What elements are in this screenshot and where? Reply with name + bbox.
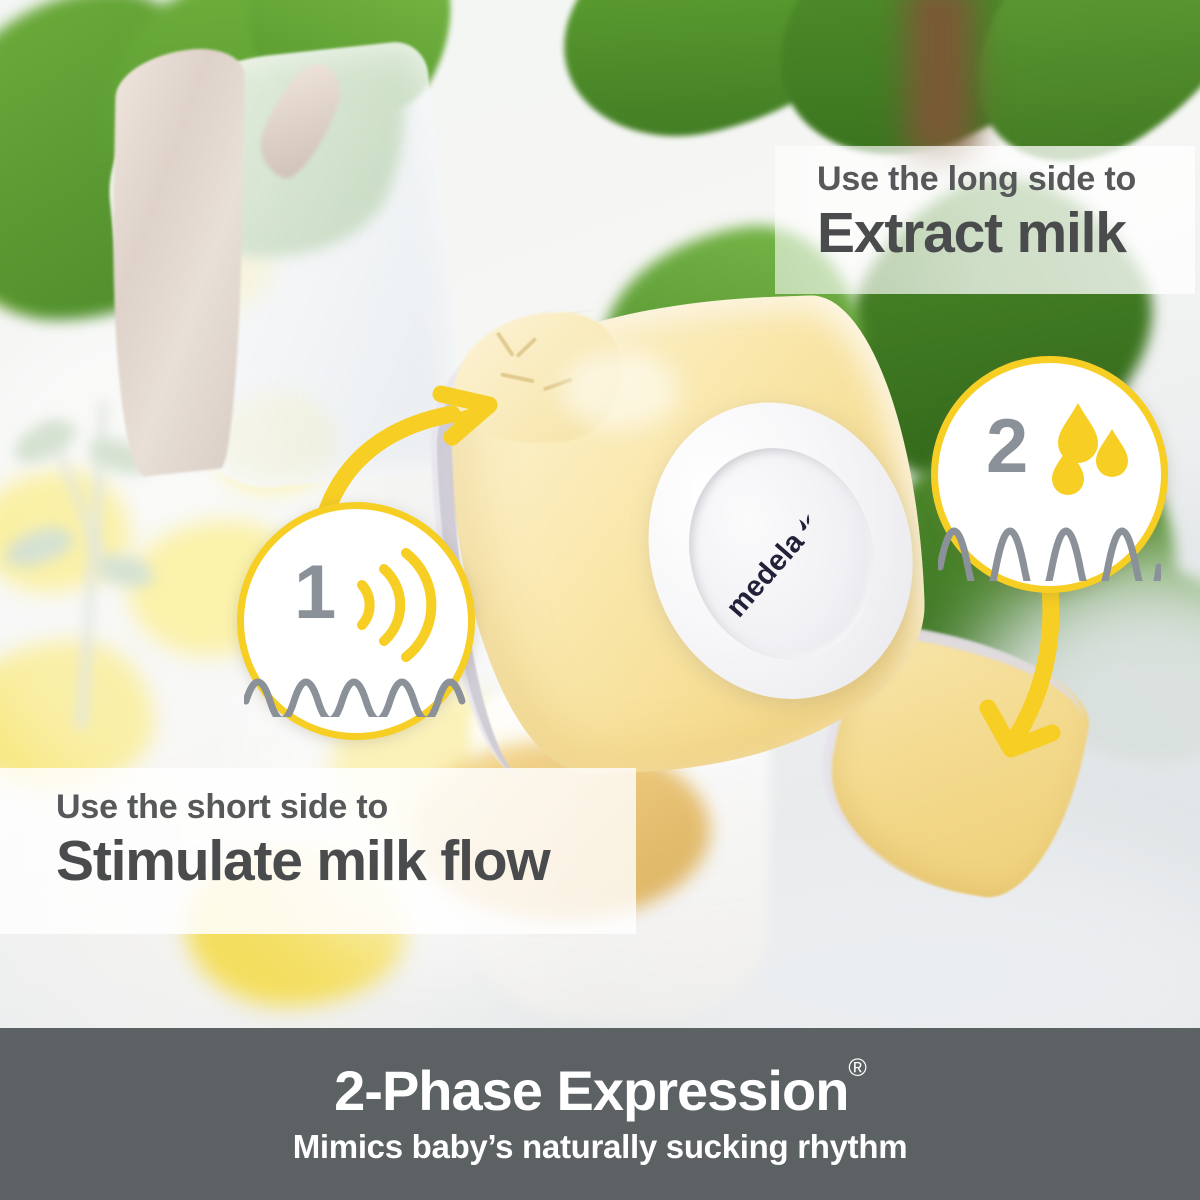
- phase-1-badge: 1: [237, 502, 475, 740]
- medela-wordmark-text: medela: [720, 526, 811, 624]
- bottom-banner: 2-Phase Expression® Mimics baby’s natura…: [0, 1028, 1200, 1200]
- callout-extract-eyebrow: Use the long side to: [817, 162, 1195, 198]
- infographic-canvas: medela 1: [0, 0, 1200, 1200]
- butterfly-mark-icon: [787, 505, 814, 532]
- phase-1-number: 1: [294, 555, 336, 631]
- callout-stimulate-headline: Stimulate milk flow: [56, 831, 636, 891]
- callout-extract-milk: Use the long side to Extract milk: [775, 146, 1195, 294]
- fast-wave-icon: [244, 657, 468, 717]
- photo-glint: [560, 350, 680, 430]
- callout-stimulate-milk-flow: Use the short side to Stimulate milk flo…: [0, 768, 636, 934]
- signal-waves-icon: [348, 543, 444, 667]
- banner-title: 2-Phase Expression®: [334, 1062, 866, 1121]
- slow-wave-icon: [938, 489, 1161, 581]
- banner-subtitle: Mimics baby’s naturally sucking rhythm: [293, 1128, 908, 1166]
- phase-2-number: 2: [986, 409, 1028, 485]
- milk-drops-icon: [1044, 397, 1140, 501]
- pump-handle: medela: [444, 292, 930, 778]
- banner-title-text: 2-Phase Expression: [334, 1059, 848, 1122]
- callout-stimulate-eyebrow: Use the short side to: [56, 790, 636, 826]
- phase-2-badge: 2: [931, 356, 1168, 593]
- callout-extract-headline: Extract milk: [817, 203, 1195, 263]
- breast-shield-rim: [109, 44, 246, 481]
- registered-trademark-icon: ®: [848, 1054, 865, 1082]
- plant-stem: [905, 0, 975, 160]
